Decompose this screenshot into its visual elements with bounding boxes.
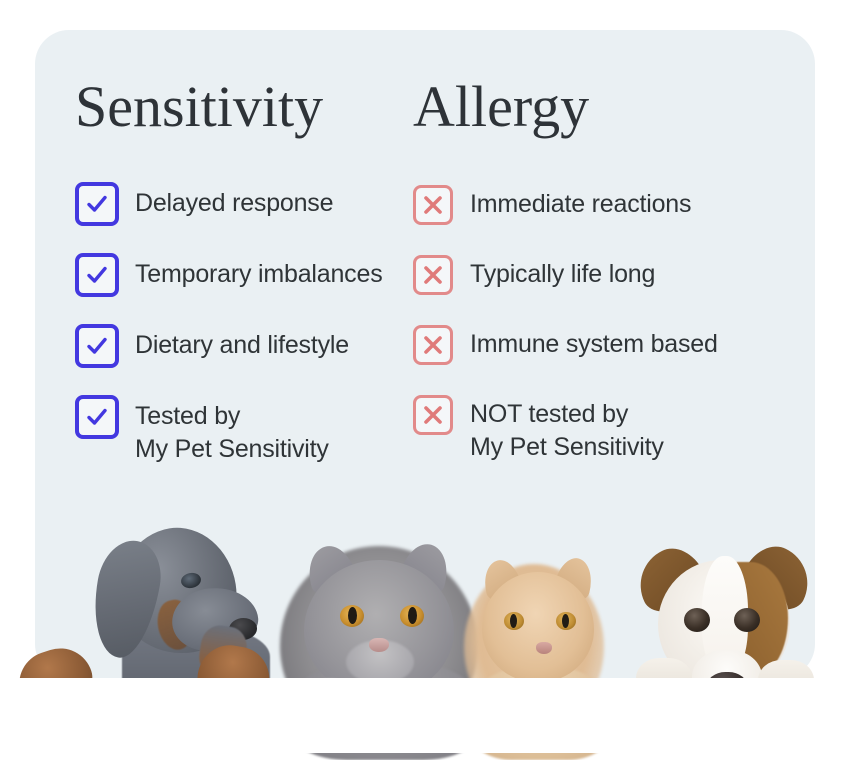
list-item-label: Typically life long	[470, 252, 655, 291]
list-item-label: Immune system based	[470, 322, 718, 361]
list-item: Immune system based	[413, 322, 815, 365]
comparison-columns: Sensitivity Delayed response	[35, 30, 815, 467]
cross-icon	[413, 325, 453, 365]
checklist-sensitivity: Delayed response Temporary imbalances	[75, 182, 403, 467]
list-item: Immediate reactions	[413, 182, 815, 225]
list-item-label: Dietary and lifestyle	[135, 324, 349, 362]
cross-icon	[413, 185, 453, 225]
column-sensitivity: Sensitivity Delayed response	[35, 30, 403, 467]
list-item: Dietary and lifestyle	[75, 324, 403, 368]
list-item: Temporary imbalances	[75, 253, 403, 297]
list-item: NOT tested by My Pet Sensitivity	[413, 392, 815, 465]
list-item-label: Immediate reactions	[470, 182, 691, 221]
list-item-label: Delayed response	[135, 182, 333, 220]
list-item: Typically life long	[413, 252, 815, 295]
column-title-sensitivity: Sensitivity	[75, 78, 403, 136]
checkmark-icon	[75, 253, 119, 297]
cross-icon	[413, 255, 453, 295]
column-allergy: Allergy Immediate reactions	[403, 30, 815, 467]
column-title-allergy: Allergy	[413, 78, 815, 136]
list-item-label: Temporary imbalances	[135, 253, 383, 291]
checkmark-icon	[75, 395, 119, 439]
list-item: Tested by My Pet Sensitivity	[75, 395, 403, 467]
checklist-allergy: Immediate reactions Typically life long	[413, 182, 815, 465]
white-ledge	[0, 678, 850, 753]
list-item: Delayed response	[75, 182, 403, 226]
list-item-label: Tested by My Pet Sensitivity	[135, 395, 329, 467]
list-item-label: NOT tested by My Pet Sensitivity	[470, 392, 664, 465]
cross-icon	[413, 395, 453, 435]
checkmark-icon	[75, 324, 119, 368]
checkmark-icon	[75, 182, 119, 226]
